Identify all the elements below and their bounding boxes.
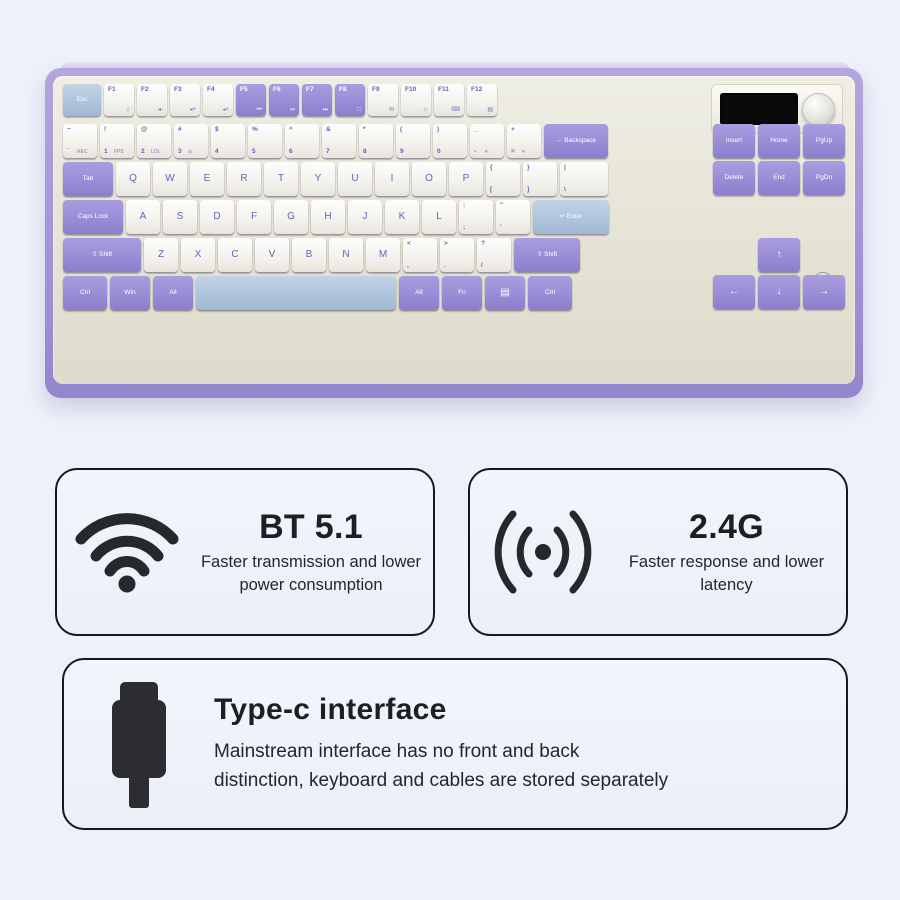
key-f2[interactable]: F2◂- (137, 84, 167, 116)
key-legend: Insert (726, 138, 742, 145)
wireless-signal-icon (470, 506, 615, 598)
feature-title: 2.4G (615, 508, 838, 547)
key-legend-top: F2 (141, 87, 149, 94)
key-legend-bottom: ] (527, 187, 529, 194)
key-legend: End (773, 175, 785, 182)
key-legend-sub: ♫ (126, 107, 131, 113)
key-o[interactable]: O (412, 162, 446, 196)
key-legend-sub: ▤ (487, 107, 493, 113)
key-g[interactable]: G (274, 200, 308, 234)
key-legend: L (436, 212, 442, 223)
key-blank[interactable] (196, 276, 396, 310)
key-legend-top: F1 (108, 87, 116, 94)
key-m[interactable]: M (366, 238, 400, 272)
key-legend-top: F8 (339, 87, 347, 94)
key-legend-sub: ◂- (158, 107, 163, 113)
key-f1[interactable]: F1♫ (104, 84, 134, 116)
arrow-left-key[interactable]: ← (713, 275, 755, 309)
key-legend: M (379, 250, 387, 261)
key-u[interactable]: U (338, 162, 372, 196)
key-[interactable]: :; (459, 200, 493, 234)
key-legend-fn: REC (77, 150, 88, 155)
key-legend: D (213, 212, 220, 223)
keyboard-key-area: Ⓐ EscF1♫F2◂-F3◂+F4◂×F5⏮F6⏯F7⏭F8□F9✉F10⌂F… (53, 76, 855, 384)
key-z[interactable]: Z (144, 238, 178, 272)
key-w[interactable]: W (153, 162, 187, 196)
key-legend: Fn (458, 290, 466, 297)
key-legend-top: ! (104, 127, 106, 134)
key-legend-sub: ✉ (389, 107, 394, 113)
rotary-volume-knob[interactable] (802, 93, 835, 126)
feature-title: Type-c interface (214, 693, 828, 727)
key-delete[interactable]: Delete (713, 161, 755, 195)
key-legend-fn: LOL (151, 150, 160, 155)
key-legend-top: + (511, 127, 515, 134)
key-enter[interactable]: ↵ Enter (533, 200, 609, 234)
key-h[interactable]: H (311, 200, 345, 234)
key-v[interactable]: V (255, 238, 289, 272)
key-legend: ← (729, 287, 739, 298)
key-ctrl[interactable]: Ctrl (63, 276, 107, 310)
key-legend: U (351, 174, 358, 185)
key-legend-top: F4 (207, 87, 215, 94)
key-[interactable]: +=☀ (507, 124, 541, 158)
feature-description: Faster transmission and lower power cons… (197, 551, 425, 596)
key-legend-sub: ◂× (222, 107, 229, 113)
key-legend-fn: ◎ (188, 150, 192, 155)
key-legend: J (363, 212, 368, 223)
key-legend-sub: ⏮ (257, 107, 262, 113)
key-pgup[interactable]: PgUp (803, 124, 845, 158)
key-legend: V (269, 250, 276, 261)
key-legend-sub: ⏭ (323, 107, 328, 113)
key-f3[interactable]: F3◂+ (170, 84, 200, 116)
key-c[interactable]: C (218, 238, 252, 272)
key-legend: Ctrl (545, 290, 555, 297)
key-legend: Alt (415, 290, 423, 297)
key-caps-lock[interactable]: Caps Lock (63, 200, 123, 234)
key-legend-sub: ◂+ (189, 107, 196, 113)
key-legend-bottom: ; (463, 225, 465, 232)
key-legend-top: ? (481, 241, 485, 248)
key-end[interactable]: End (758, 161, 800, 195)
key-legend-top: # (178, 127, 182, 134)
key-legend: Delete (725, 175, 744, 182)
key-legend-top: F12 (471, 87, 482, 94)
product-hero-keyboard: Ⓐ EscF1♫F2◂-F3◂+F4◂×F5⏮F6⏯F7⏭F8□F9✉F10⌂F… (0, 0, 900, 450)
key-legend: S (177, 212, 184, 223)
key-legend: X (195, 250, 202, 261)
key-tab[interactable]: Tab (63, 162, 113, 196)
key-legend-bottom: 5 (252, 149, 256, 156)
key-d[interactable]: D (200, 200, 234, 234)
key-legend-bottom: , (407, 263, 409, 270)
key-legend-bottom: . (444, 263, 446, 270)
key-ctrl[interactable]: Ctrl (528, 276, 572, 310)
key-i[interactable]: I (375, 162, 409, 196)
key-legend-top: $ (215, 127, 219, 134)
key-legend-sub: ⌨ (451, 107, 460, 113)
key-legend-fn: ☀ (521, 150, 525, 155)
key-[interactable]: ~`REC (63, 124, 97, 158)
key-b[interactable]: B (292, 238, 326, 272)
keyboard-plate: Ⓐ EscF1♫F2◂-F3◂+F4◂×F5⏮F6⏯F7⏭F8□F9✉F10⌂F… (53, 76, 855, 384)
key-legend-top: % (252, 127, 258, 134)
key-f4[interactable]: F4◂× (203, 84, 233, 116)
key-legend-top: F10 (405, 87, 416, 94)
key-legend: ▤ (500, 288, 509, 299)
key-shift[interactable]: ⇧ Shift (514, 238, 580, 272)
key-legend-top: F5 (240, 87, 248, 94)
key-legend-sub: □ (357, 107, 361, 113)
feature-card-typec: Type-c interface Mainstream interface ha… (62, 658, 848, 830)
key-legend: E (204, 174, 211, 185)
key-s[interactable]: S (163, 200, 197, 234)
usb-type-c-connector-icon (64, 678, 214, 810)
key-legend-bottom: 8 (363, 149, 367, 156)
key-legend-top: F7 (306, 87, 314, 94)
key-home[interactable]: Home (758, 124, 800, 158)
key-legend: ↓ (777, 287, 782, 298)
feature-description-line2: distinction, keyboard and cables are sto… (214, 766, 828, 795)
key-[interactable]: _-☀ (470, 124, 504, 158)
key-n[interactable]: N (329, 238, 363, 272)
key-legend-top: ( (400, 127, 402, 134)
key-legend: N (342, 250, 349, 261)
key-legend-top: } (527, 165, 530, 172)
key-f11[interactable]: F11⌨ (434, 84, 464, 116)
key-f8[interactable]: F8□ (335, 84, 365, 116)
key-legend-bottom: [ (490, 187, 492, 194)
arrow-right-key[interactable]: → (803, 275, 845, 309)
key-legend-top: > (444, 241, 448, 248)
key-legend-top: F6 (273, 87, 281, 94)
key-legend-bottom: 2 (141, 149, 145, 156)
key-k[interactable]: K (385, 200, 419, 234)
feature-card-24g: 2.4G Faster response and lower latency (468, 468, 848, 636)
key-win[interactable]: Win (110, 276, 150, 310)
key-[interactable]: >. (440, 238, 474, 272)
key-f12[interactable]: F12▤ (467, 84, 497, 116)
key-5[interactable]: %5 (248, 124, 282, 158)
key-legend-bottom: 1 (104, 149, 108, 156)
key-3[interactable]: #3◎ (174, 124, 208, 158)
key-legend-top: " (500, 203, 503, 210)
key-legend-bottom: 6 (289, 149, 293, 156)
arrow-down-key[interactable]: ↓ (758, 275, 800, 309)
key-legend-top: * (363, 127, 366, 134)
key-legend-bottom: ` (67, 149, 69, 156)
key-t[interactable]: T (264, 162, 298, 196)
oled-display-screen (720, 93, 798, 125)
key-legend-top: F9 (372, 87, 380, 94)
key-legend-fn: ☀ (484, 150, 488, 155)
key-8[interactable]: *8 (359, 124, 393, 158)
key-legend: O (425, 174, 433, 185)
key-p[interactable]: P (449, 162, 483, 196)
key-legend: F (251, 212, 257, 223)
key-a[interactable]: A (126, 200, 160, 234)
key-r[interactable]: R (227, 162, 261, 196)
key-legend-bottom: 3 (178, 149, 182, 156)
key-legend: K (399, 212, 406, 223)
key-f7[interactable]: F7⏭ (302, 84, 332, 116)
key-[interactable]: {[ (486, 162, 520, 196)
key-0[interactable]: )0 (433, 124, 467, 158)
key-legend: ⇧ Shift (92, 252, 112, 259)
feature-title: BT 5.1 (197, 508, 425, 547)
key-7[interactable]: &7 (322, 124, 356, 158)
key-alt[interactable]: Alt (153, 276, 193, 310)
key-legend: Tab (83, 176, 93, 183)
key-1[interactable]: !1FPS (100, 124, 134, 158)
key-legend-bottom: ' (500, 225, 502, 232)
bluetooth-wifi-icon (57, 509, 197, 595)
key-pgdn[interactable]: PgDn (803, 161, 845, 195)
key-legend-top: ) (437, 127, 439, 134)
key-legend: A (140, 212, 147, 223)
key-legend: PgDn (816, 175, 832, 182)
key-fn[interactable]: Fn (442, 276, 482, 310)
key-legend: H (324, 212, 331, 223)
key-legend-top: @ (141, 127, 147, 134)
key-l[interactable]: L (422, 200, 456, 234)
key-legend: ⇧ Shift (537, 252, 557, 259)
key-legend: C (231, 250, 238, 261)
key-legend-top: F3 (174, 87, 182, 94)
key-legend-sub: ⏯ (290, 107, 295, 113)
key-f5[interactable]: F5⏮ (236, 84, 266, 116)
key-legend: T (278, 174, 284, 185)
key-legend-top: : (463, 203, 465, 210)
key-legend: W (165, 174, 174, 185)
key-legend: Z (158, 250, 164, 261)
key-6[interactable]: ^6 (285, 124, 319, 158)
arrow-up-key[interactable]: ↑ (758, 238, 800, 272)
key-shift[interactable]: ⇧ Shift (63, 238, 141, 272)
keyboard-case: Ⓐ EscF1♫F2◂-F3◂+F4◂×F5⏮F6⏯F7⏭F8□F9✉F10⌂F… (45, 68, 863, 398)
key-legend: Home (770, 138, 787, 145)
key-legend: Q (129, 174, 137, 185)
key-[interactable]: ▤ (485, 276, 525, 310)
key-legend: I (391, 174, 394, 185)
key-legend-bottom: / (481, 263, 483, 270)
key-legend: Esc (77, 97, 88, 104)
key-f[interactable]: F (237, 200, 271, 234)
key-legend: ← Backspace (556, 138, 596, 145)
key-legend-bottom: = (511, 149, 515, 156)
key-legend-bottom: 4 (215, 149, 219, 156)
key-4[interactable]: $4 (211, 124, 245, 158)
key-legend: G (287, 212, 295, 223)
key-[interactable]: ?/ (477, 238, 511, 272)
key-legend-bottom: 7 (326, 149, 330, 156)
feature-card-bluetooth: BT 5.1 Faster transmission and lower pow… (55, 468, 435, 636)
key-legend-bottom: 0 (437, 149, 441, 156)
key-legend: Alt (169, 290, 177, 297)
key-9[interactable]: (9 (396, 124, 430, 158)
key-alt[interactable]: Alt (399, 276, 439, 310)
key-legend-bottom: - (474, 149, 476, 156)
key-legend: P (463, 174, 470, 185)
key-[interactable]: }] (523, 162, 557, 196)
key-legend-top: _ (474, 127, 478, 134)
key-f9[interactable]: F9✉ (368, 84, 398, 116)
key-[interactable]: "' (496, 200, 530, 234)
key-legend-top: ^ (289, 127, 293, 134)
key-insert[interactable]: Insert (713, 124, 755, 158)
key-legend: Win (124, 290, 135, 297)
key-2[interactable]: @2LOL (137, 124, 171, 158)
key-legend-top: & (326, 127, 331, 134)
key-legend: B (306, 250, 313, 261)
key-f6[interactable]: F6⏯ (269, 84, 299, 116)
key-q[interactable]: Q (116, 162, 150, 196)
key-legend-fn: FPS (114, 150, 124, 155)
key-legend: ↑ (777, 250, 782, 261)
key-legend-top: { (490, 165, 493, 172)
key-legend-top: | (564, 165, 566, 172)
key-legend: R (240, 174, 247, 185)
key-j[interactable]: J (348, 200, 382, 234)
key-legend-top: < (407, 241, 411, 248)
key-legend: Caps Lock (78, 214, 109, 221)
key-legend-bottom: \ (564, 187, 566, 194)
key-f10[interactable]: F10⌂ (401, 84, 431, 116)
key-legend-bottom: 9 (400, 149, 404, 156)
key-backspace[interactable]: ← Backspace (544, 124, 608, 158)
key-x[interactable]: X (181, 238, 215, 272)
key-e[interactable]: E (190, 162, 224, 196)
key-legend-sub: ⌂ (423, 107, 427, 113)
key-[interactable]: <, (403, 238, 437, 272)
key-legend: PgUp (816, 138, 832, 145)
key-legend: Ctrl (80, 290, 90, 297)
key-esc[interactable]: Esc (63, 84, 101, 116)
feature-description: Faster response and lower latency (615, 551, 838, 596)
key-legend-top: ~ (67, 127, 71, 134)
feature-description-line1: Mainstream interface has no front and ba… (214, 737, 828, 766)
key-legend: → (819, 287, 829, 298)
key-[interactable]: |\ (560, 162, 608, 196)
key-legend-top: F11 (438, 87, 449, 94)
key-y[interactable]: Y (301, 162, 335, 196)
key-legend: ↵ Enter (560, 214, 583, 221)
key-legend: Y (315, 174, 322, 185)
